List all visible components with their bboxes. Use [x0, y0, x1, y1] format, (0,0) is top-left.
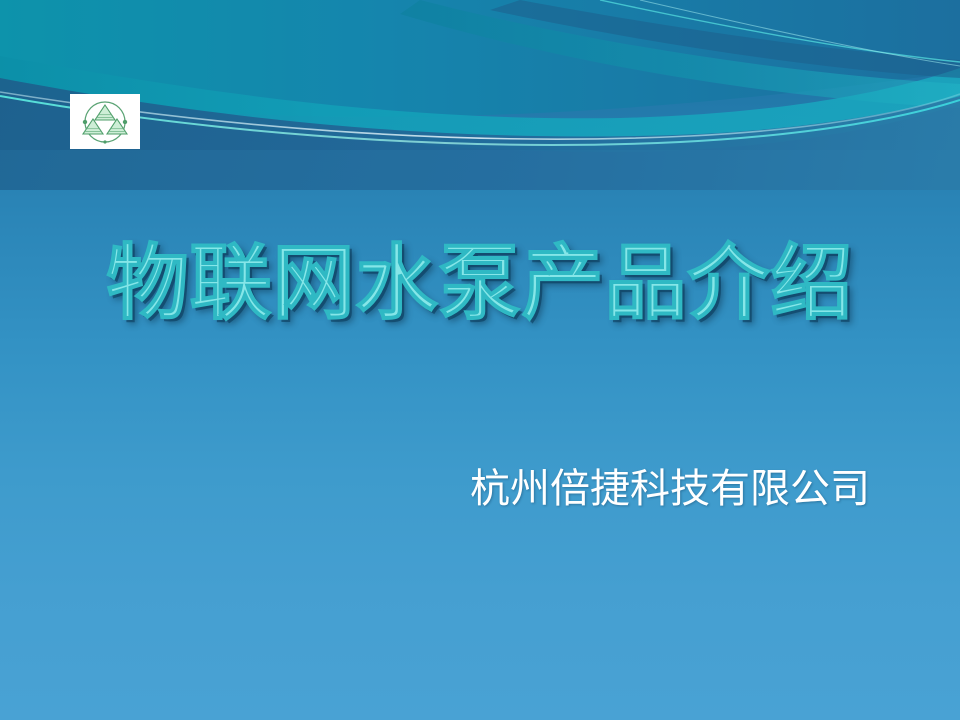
- presentation-slide: 物联网水泵产品介绍 杭州倍捷科技有限公司: [0, 0, 960, 720]
- wave-decoration: [0, 0, 960, 190]
- wave-band-blend: [0, 150, 960, 190]
- slide-subtitle: 杭州倍捷科技有限公司: [420, 462, 920, 516]
- wave-cyan-filament-upper-2: [640, 0, 960, 66]
- slide-title: 物联网水泵产品介绍: [96, 232, 864, 336]
- wave-teal-ribbon: [0, 56, 960, 152]
- wave-dark-ribbon: [0, 78, 960, 190]
- wave-white-filament: [0, 92, 960, 139]
- pyramid-circle-icon: [75, 98, 135, 146]
- wave-teal-main: [0, 0, 960, 117]
- wave-teal-ribbon-secondary: [400, 0, 960, 108]
- wave-cyan-filament: [0, 96, 960, 145]
- wave-dark-streak: [490, 0, 960, 78]
- wave-cyan-filament-upper: [600, 0, 960, 62]
- company-logo: [70, 94, 140, 149]
